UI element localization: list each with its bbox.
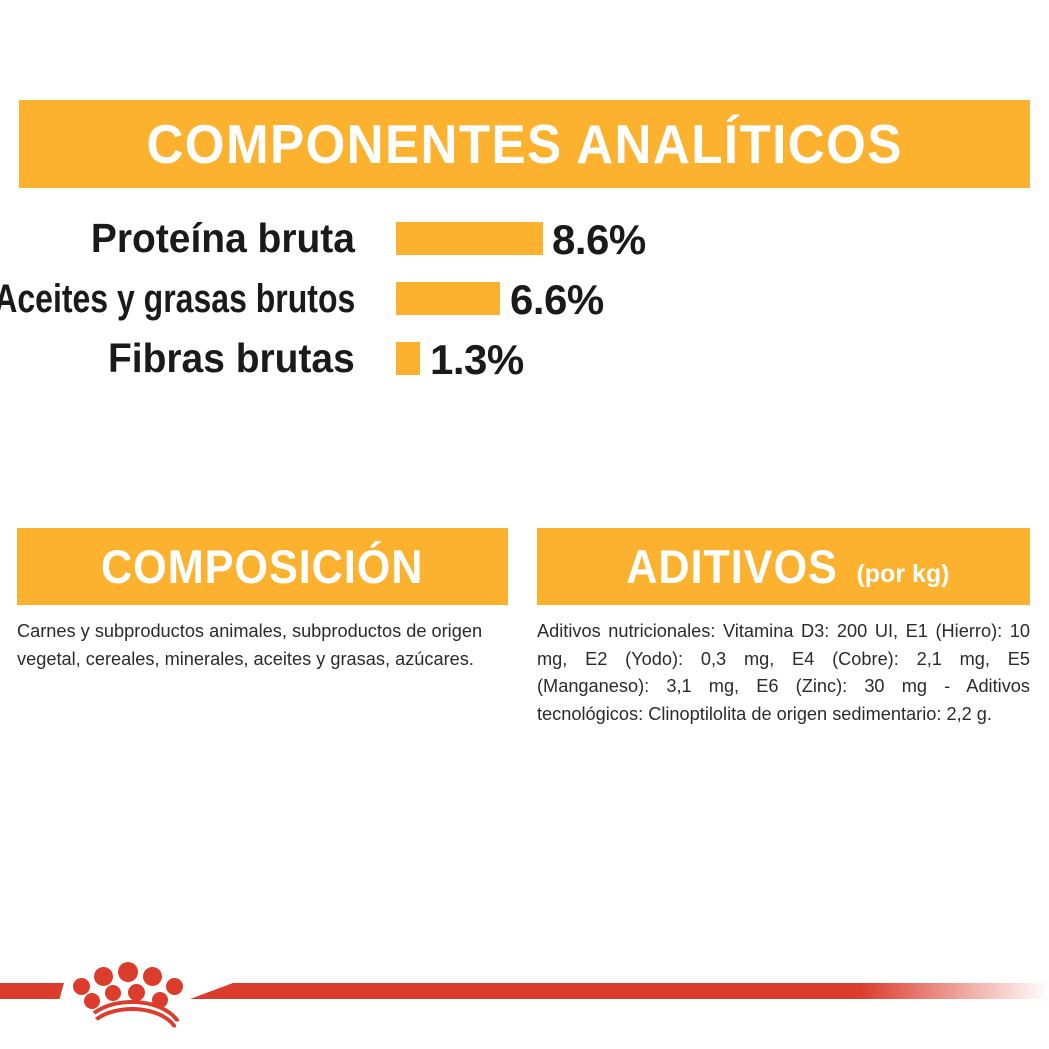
nutrient-bar-fats: [396, 282, 500, 315]
footer-rule-left: [0, 983, 64, 999]
nutrient-value-fats: 6.6%: [510, 279, 604, 321]
royal-canin-crown-icon: [73, 956, 183, 1018]
nutrient-row: Proteína bruta 8.6%: [0, 205, 1049, 265]
additives-subtitle: (por kg): [856, 560, 949, 589]
nutrient-value-protein: 8.6%: [552, 219, 646, 261]
nutrient-bar-fibre: [396, 342, 420, 375]
nutrient-label-protein: Proteína bruta: [91, 218, 355, 259]
footer-rule-right: [190, 983, 1049, 999]
composition-text: Carnes y subproductos animales, subprodu…: [17, 618, 504, 673]
nutrient-row: Fibras brutas 1.3%: [0, 325, 1049, 385]
footer: [0, 930, 1049, 1049]
nutrient-label-fats: Aceites y grasas brutos: [0, 279, 355, 319]
analytical-components-title: COMPONENTES ANALÍTICOS: [146, 117, 902, 172]
composition-title: COMPOSICIÓN: [101, 543, 423, 590]
additives-banner: ADITIVOS (por kg): [537, 528, 1030, 605]
composition-banner: COMPOSICIÓN: [17, 528, 508, 605]
additives-text: Aditivos nutricionales: Vitamina D3: 200…: [537, 618, 1030, 729]
nutrient-label-fibre: Fibras brutas: [108, 338, 355, 379]
additives-title: ADITIVOS: [627, 543, 839, 590]
nutrient-row: Aceites y grasas brutos 6.6%: [0, 265, 1049, 325]
nutrient-value-fibre: 1.3%: [430, 339, 524, 381]
analytical-components-chart: Proteína bruta 8.6% Aceites y grasas bru…: [0, 205, 1049, 385]
nutrition-panel: COMPONENTES ANALÍTICOS Proteína bruta 8.…: [0, 0, 1049, 1049]
nutrient-bar-protein: [396, 222, 543, 255]
analytical-components-banner: COMPONENTES ANALÍTICOS: [19, 100, 1030, 188]
